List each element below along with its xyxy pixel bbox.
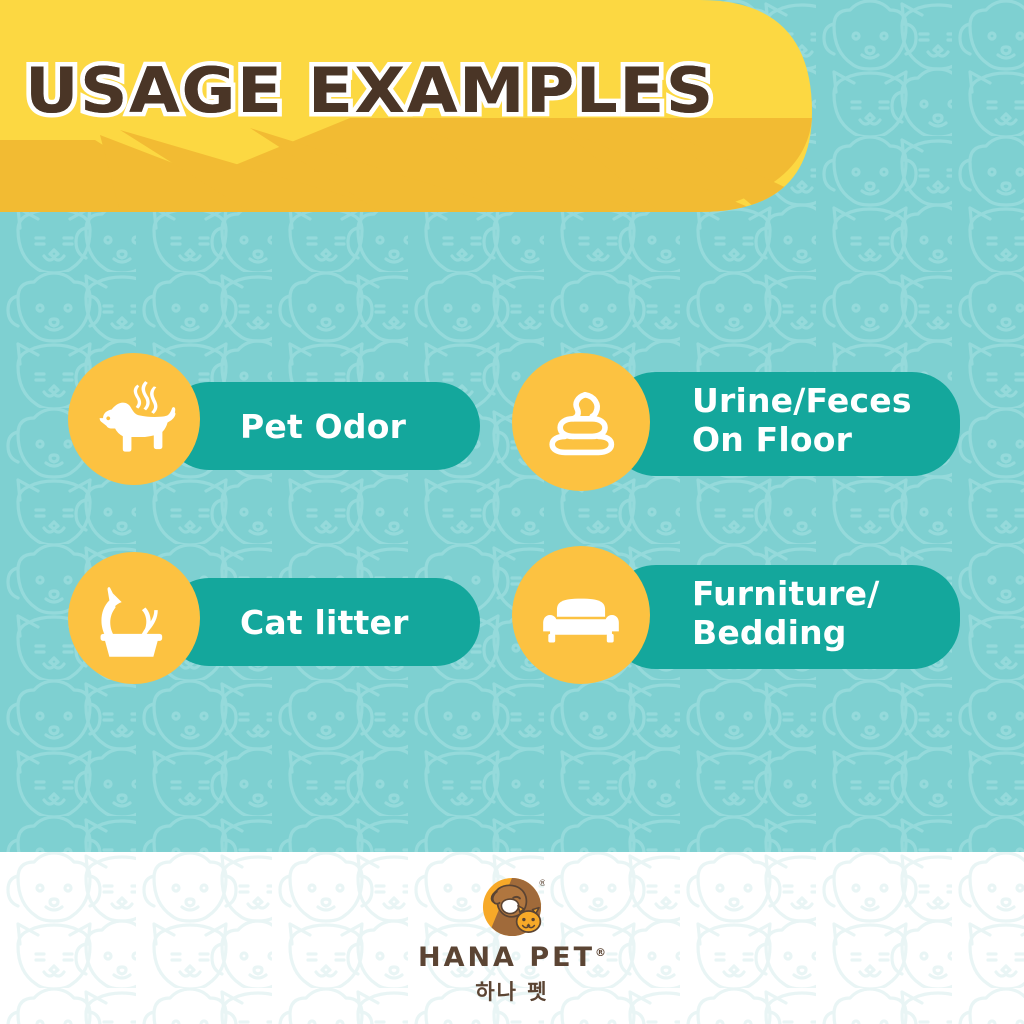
brand-logo: ® HANA PET® 하나 펫 [0, 874, 1024, 1006]
feature-label-pet-odor: Pet Odor [240, 408, 480, 447]
poster: USAGE EXAMPLES USAGE EXAMPLES Pet Odor [0, 0, 1024, 1024]
brand-name-korean: 하나 펫 [475, 976, 548, 1006]
feature-list: Pet Odor Urine/Feces On Floor [0, 0, 1024, 852]
sofa-icon [538, 572, 624, 658]
brand-name: HANA PET® [418, 942, 606, 973]
brand-name-text: HANA PET [418, 942, 595, 973]
svg-text:®: ® [538, 879, 545, 889]
footer: ® HANA PET® 하나 펫 [0, 852, 1024, 1024]
feature-icon-circle-furniture[interactable] [512, 546, 650, 684]
feature-icon-circle-cat-litter[interactable] [68, 552, 200, 684]
dog-odor-icon [91, 376, 177, 462]
feature-label-furniture: Furniture/ Bedding [692, 575, 992, 653]
feature-label-urine-feces: Urine/Feces On Floor [692, 382, 992, 460]
feature-icon-circle-urine-feces[interactable] [512, 353, 650, 491]
poop-icon [541, 382, 621, 462]
feature-label-cat-litter: Cat litter [240, 604, 480, 643]
registered-mark: ® [595, 946, 606, 959]
cat-litterbox-icon [90, 574, 178, 662]
hana-pet-dog-cat-logo-icon: ® [479, 874, 545, 940]
main-panel: USAGE EXAMPLES USAGE EXAMPLES Pet Odor [0, 0, 1024, 852]
feature-icon-circle-pet-odor[interactable] [68, 353, 200, 485]
